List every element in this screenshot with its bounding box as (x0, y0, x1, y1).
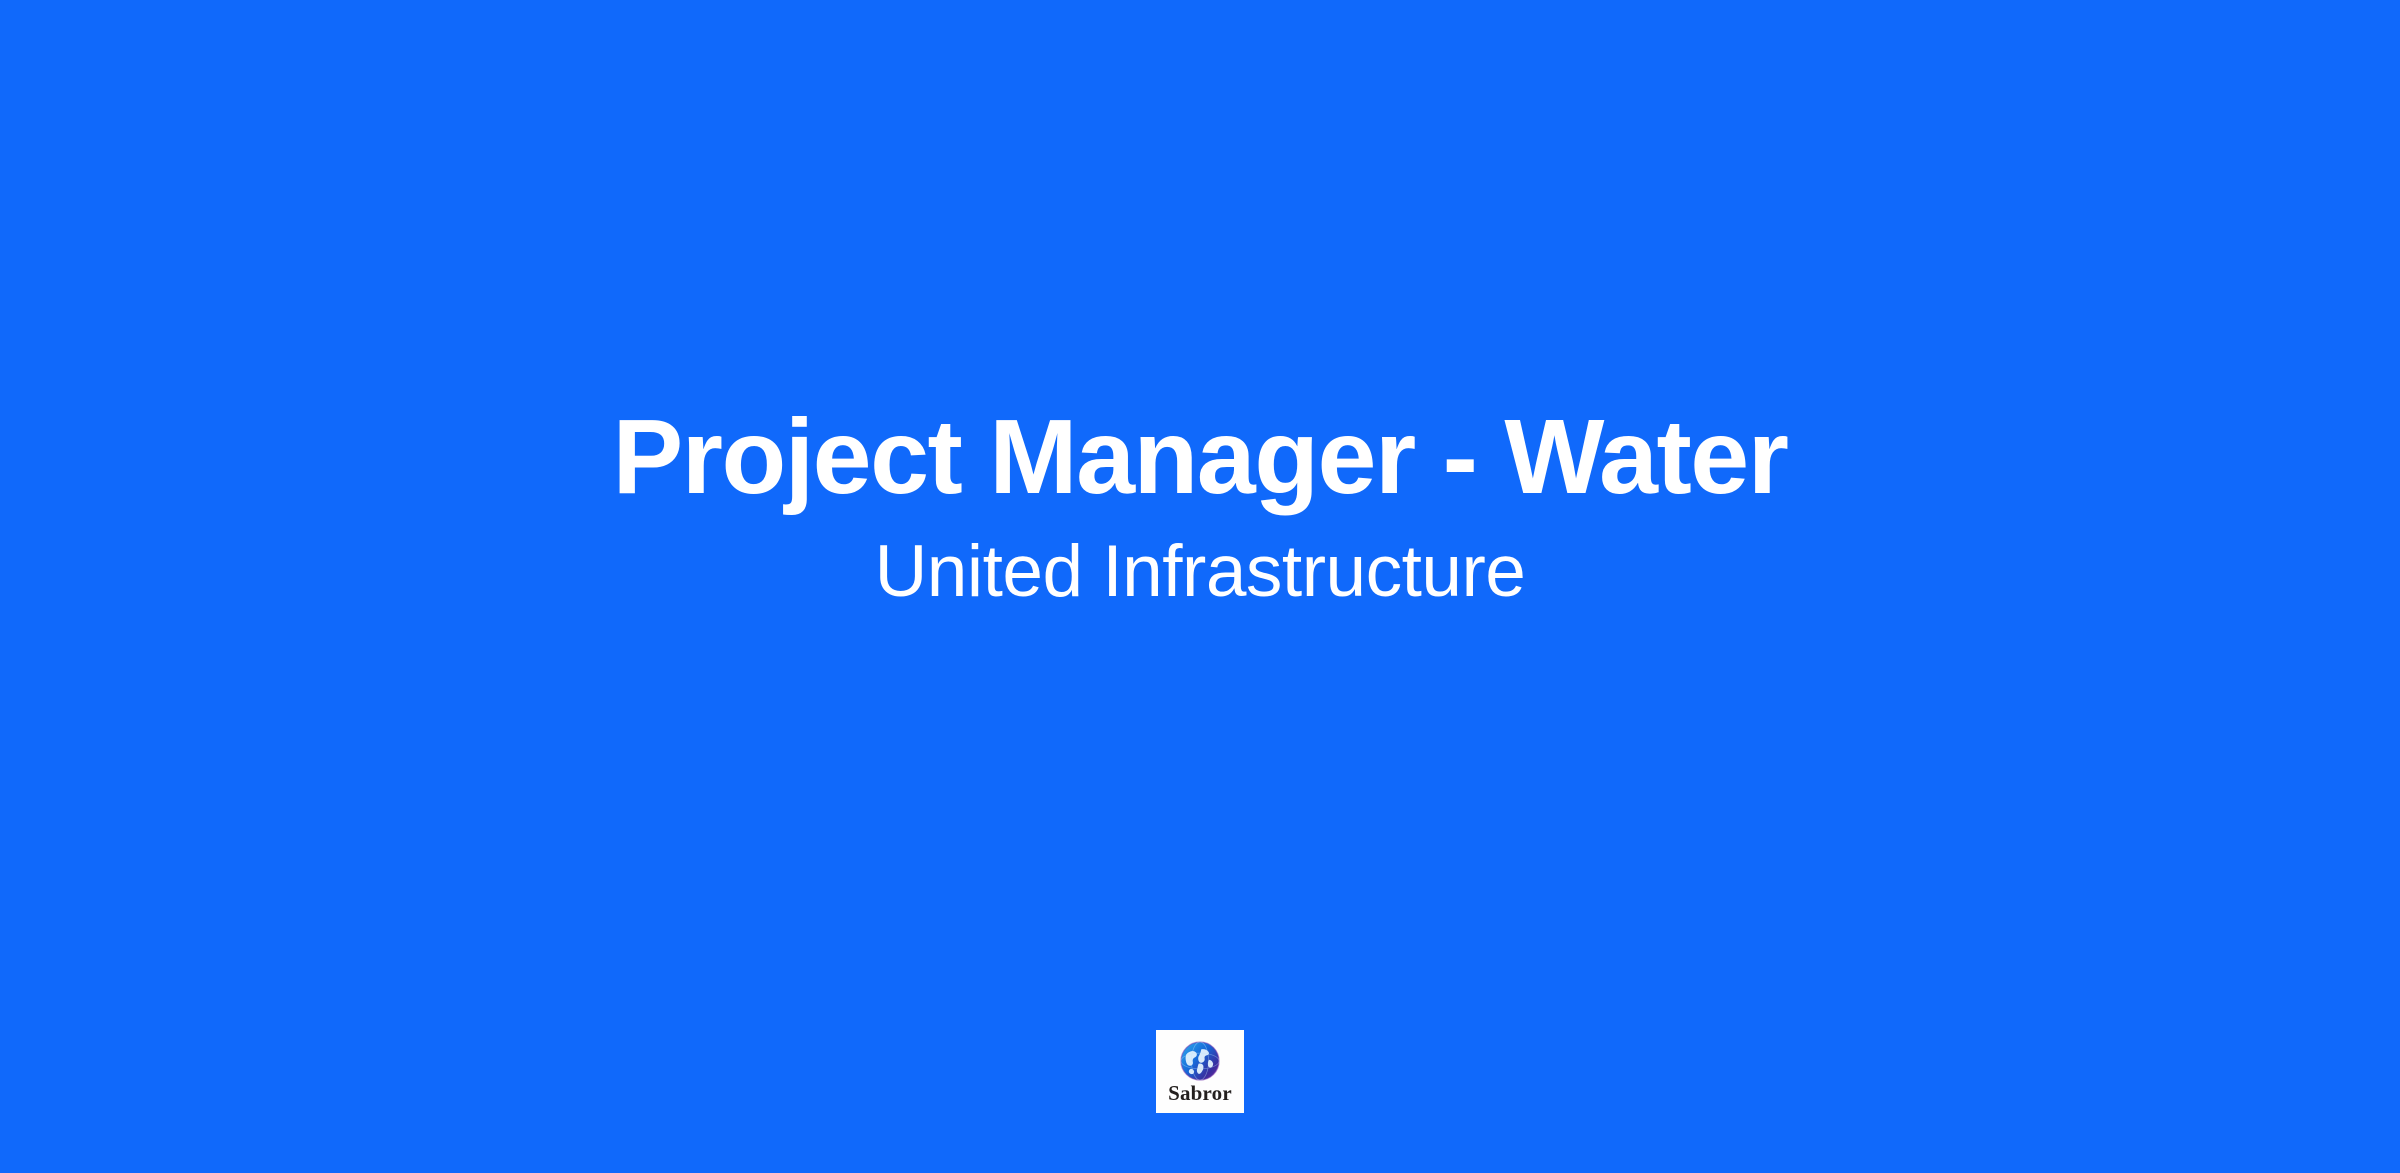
job-posting-slide: Project Manager - Water United Infrastru… (0, 0, 2400, 1173)
logo-card[interactable]: Sabror (1156, 1030, 1244, 1113)
company-name: United Infrastructure (875, 529, 1526, 615)
page-title: Project Manager - Water (613, 398, 1788, 517)
hero-section: Project Manager - Water United Infrastru… (0, 0, 2400, 1173)
footer-logo[interactable]: Sabror (1156, 1030, 1244, 1113)
logo-wordmark: Sabror (1168, 1083, 1232, 1104)
globe-icon (1179, 1040, 1221, 1082)
